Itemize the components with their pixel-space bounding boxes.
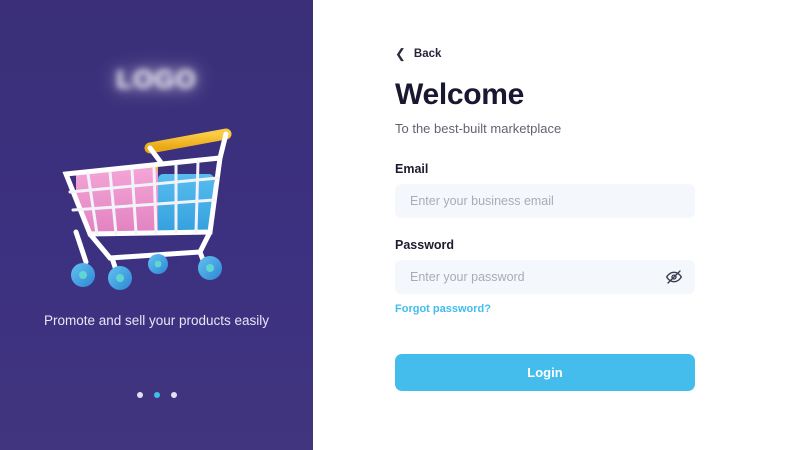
password-visibility-toggle[interactable] <box>665 268 683 286</box>
carousel-dot-1[interactable] <box>137 392 143 398</box>
back-button-label: Back <box>414 48 442 60</box>
logo-text: LOGO <box>116 64 197 95</box>
carousel-dot-3[interactable] <box>171 392 177 398</box>
brand-panel: LOGO <box>0 0 313 450</box>
page-title: Welcome <box>395 78 695 112</box>
brand-tagline: Promote and sell your products easily <box>0 313 313 328</box>
logo: LOGO <box>0 64 313 95</box>
email-input-shell[interactable] <box>395 184 695 218</box>
shopping-cart-illustration <box>50 112 270 302</box>
email-label: Email <box>395 162 695 176</box>
cart-frame-legs <box>76 232 210 270</box>
email-input[interactable] <box>395 184 695 218</box>
login-screen: LOGO <box>0 0 800 450</box>
eye-off-icon <box>666 269 682 285</box>
login-button[interactable]: Login <box>395 354 695 391</box>
email-field-group: Email <box>395 162 695 218</box>
login-form-panel: ❮ Back Welcome To the best-built marketp… <box>313 0 800 450</box>
cart-wheels <box>71 254 222 290</box>
chevron-left-icon: ❮ <box>395 47 406 60</box>
password-input[interactable] <box>395 260 695 294</box>
page-subtitle: To the best-built marketplace <box>395 121 695 136</box>
back-button[interactable]: ❮ Back <box>395 47 441 60</box>
forgot-password-link[interactable]: Forgot password? <box>395 303 491 315</box>
carousel-dot-2[interactable] <box>154 392 160 398</box>
carousel-dots <box>0 392 313 398</box>
form-column: ❮ Back Welcome To the best-built marketp… <box>395 0 695 391</box>
password-input-shell[interactable] <box>395 260 695 294</box>
password-label: Password <box>395 238 695 252</box>
password-field-group: Password Forgot password? <box>395 238 695 317</box>
